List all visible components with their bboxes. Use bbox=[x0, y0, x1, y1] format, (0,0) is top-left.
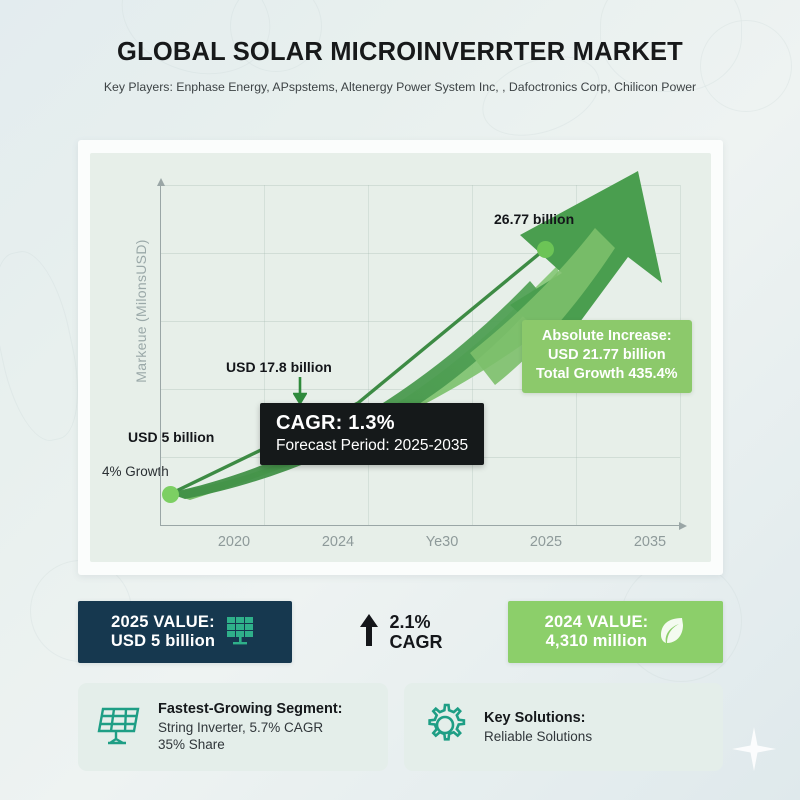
absolute-increase-growth: Total Growth 435.4% bbox=[536, 365, 678, 384]
stat-card-cagr: 2.1% CAGR bbox=[302, 601, 498, 663]
page-title: GLOBAL SOLAR MICROINVERRTER MARKET bbox=[0, 38, 800, 66]
x-tick-label: 2020 bbox=[218, 534, 250, 550]
info-card-fastest-growing-segment: Fastest-Growing Segment: String Inverter… bbox=[78, 683, 388, 771]
gear-icon bbox=[422, 702, 468, 753]
x-tick-label: Ye30 bbox=[426, 534, 459, 550]
stat-band: 2025 VALUE: USD 5 billion 2.1% CAGR bbox=[78, 601, 723, 663]
absolute-increase-callout: Absolute Increase: USD 21.77 billion Tot… bbox=[522, 320, 692, 393]
label-mid-value: USD 17.8 billion bbox=[226, 359, 332, 375]
info-card-line1: Reliable Solutions bbox=[484, 728, 592, 746]
label-start-growth: 4% Growth bbox=[102, 464, 169, 479]
y-axis bbox=[160, 185, 161, 525]
key-players-subtitle: Key Players: Enphase Energy, APspstems, … bbox=[0, 80, 800, 95]
info-card-key-solutions: Key Solutions: Reliable Solutions bbox=[404, 683, 723, 771]
stat-right-value: 4,310 million bbox=[545, 632, 649, 651]
stat-left-label: 2025 VALUE: bbox=[111, 613, 215, 632]
stat-middle-value: 2.1% bbox=[390, 612, 443, 632]
info-card-row: Fastest-Growing Segment: String Inverter… bbox=[78, 683, 723, 771]
header: GLOBAL SOLAR MICROINVERRTER MARKET Key P… bbox=[0, 38, 800, 95]
cagr-callout: CAGR: 1.3% Forecast Period: 2025-2035 bbox=[260, 403, 484, 465]
x-tick-label: 2024 bbox=[322, 534, 354, 550]
stat-card-2025-value: 2025 VALUE: USD 5 billion bbox=[78, 601, 292, 663]
x-tick-label: 2035 bbox=[634, 534, 666, 550]
info-card-heading: Key Solutions: bbox=[484, 709, 592, 728]
leaf-icon bbox=[658, 615, 686, 650]
chart-card: 26.77 billion USD 17.8 billion USD 5 bil… bbox=[78, 140, 723, 575]
cagr-callout-period: Forecast Period: 2025-2035 bbox=[276, 436, 468, 455]
stat-right-label: 2024 VALUE: bbox=[545, 613, 649, 632]
absolute-increase-value: USD 21.77 billion bbox=[536, 346, 678, 365]
data-point-marker-end bbox=[537, 241, 554, 258]
info-card-heading: Fastest-Growing Segment: bbox=[158, 700, 343, 719]
label-end-value: 26.77 billion bbox=[494, 211, 574, 227]
plot-area: 26.77 billion USD 17.8 billion USD 5 bil… bbox=[90, 153, 711, 562]
info-card-line1: String Inverter, 5.7% CAGR bbox=[158, 719, 343, 737]
x-axis-ticks: 2020 2024 Ye30 2025 2035 bbox=[160, 534, 680, 560]
data-point-marker-start bbox=[162, 486, 179, 503]
info-card-line2: 35% Share bbox=[158, 736, 343, 754]
absolute-increase-heading: Absolute Increase: bbox=[536, 327, 678, 346]
solar-panel-icon bbox=[96, 703, 142, 752]
arrow-up-icon bbox=[358, 613, 380, 652]
stat-left-value: USD 5 billion bbox=[111, 632, 215, 651]
x-axis bbox=[160, 525, 680, 526]
label-start-value: USD 5 billion bbox=[128, 429, 214, 445]
x-tick-label: 2025 bbox=[530, 534, 562, 550]
stat-middle-label: CAGR bbox=[390, 632, 443, 652]
sparkle-decoration bbox=[732, 727, 776, 771]
cagr-callout-value: CAGR: 1.3% bbox=[276, 412, 468, 435]
stat-card-2024-value: 2024 VALUE: 4,310 million bbox=[508, 601, 723, 663]
solar-panel-icon bbox=[225, 615, 259, 650]
y-axis-label: Markeue (MilonsUSD) bbox=[133, 216, 149, 406]
